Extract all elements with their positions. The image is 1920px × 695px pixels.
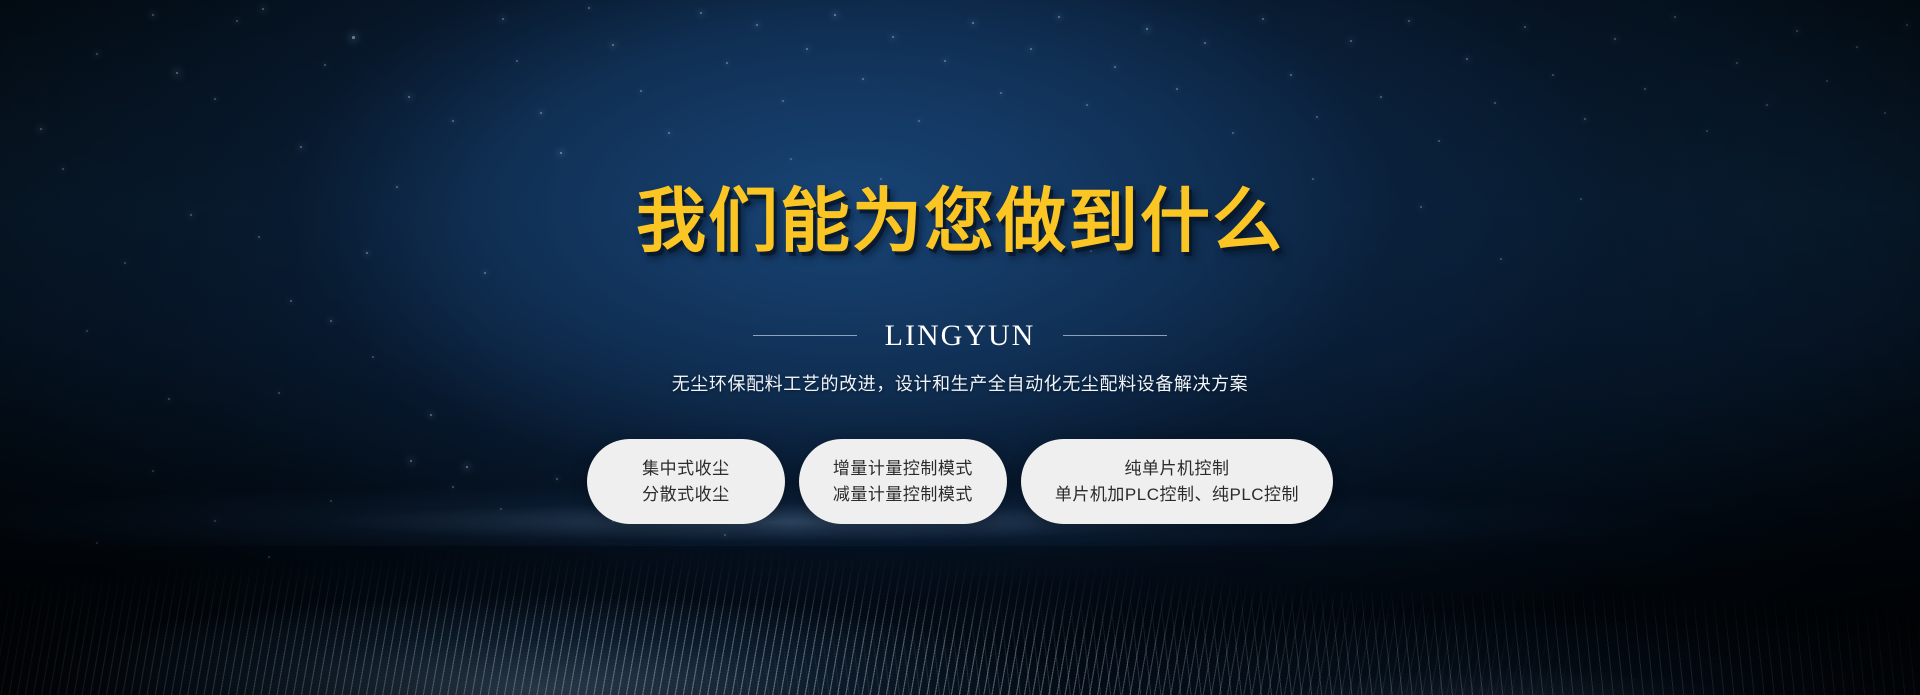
divider-line-right [1063, 335, 1167, 336]
brand-name: LINGYUN [885, 319, 1036, 353]
pill-line-2: 单片机加PLC控制、纯PLC控制 [1055, 486, 1299, 503]
feature-pill-control-system[interactable]: 纯单片机控制 单片机加PLC控制、纯PLC控制 [1021, 439, 1333, 524]
feature-pill-list: 集中式收尘 分散式收尘 增量计量控制模式 减量计量控制模式 纯单片机控制 单片机… [587, 439, 1333, 524]
page-title: 我们能为您做到什么 [636, 186, 1284, 256]
divider-line-left [753, 335, 857, 336]
pill-line-2: 分散式收尘 [642, 486, 730, 503]
banner-content: 我们能为您做到什么 LINGYUN 无尘环保配料工艺的改进，设计和生产全自动化无… [0, 0, 1920, 695]
feature-pill-dust-collection[interactable]: 集中式收尘 分散式收尘 [587, 439, 785, 524]
page-subtitle: 无尘环保配料工艺的改进，设计和生产全自动化无尘配料设备解决方案 [672, 370, 1249, 396]
hero-banner: 我们能为您做到什么 LINGYUN 无尘环保配料工艺的改进，设计和生产全自动化无… [0, 0, 1920, 695]
brand-divider-row: LINGYUN [753, 319, 1168, 353]
pill-line-1: 纯单片机控制 [1124, 460, 1229, 477]
pill-line-2: 减量计量控制模式 [833, 486, 973, 503]
pill-line-1: 集中式收尘 [642, 460, 730, 477]
feature-pill-metering-mode[interactable]: 增量计量控制模式 减量计量控制模式 [799, 439, 1007, 524]
pill-line-1: 增量计量控制模式 [833, 460, 973, 477]
